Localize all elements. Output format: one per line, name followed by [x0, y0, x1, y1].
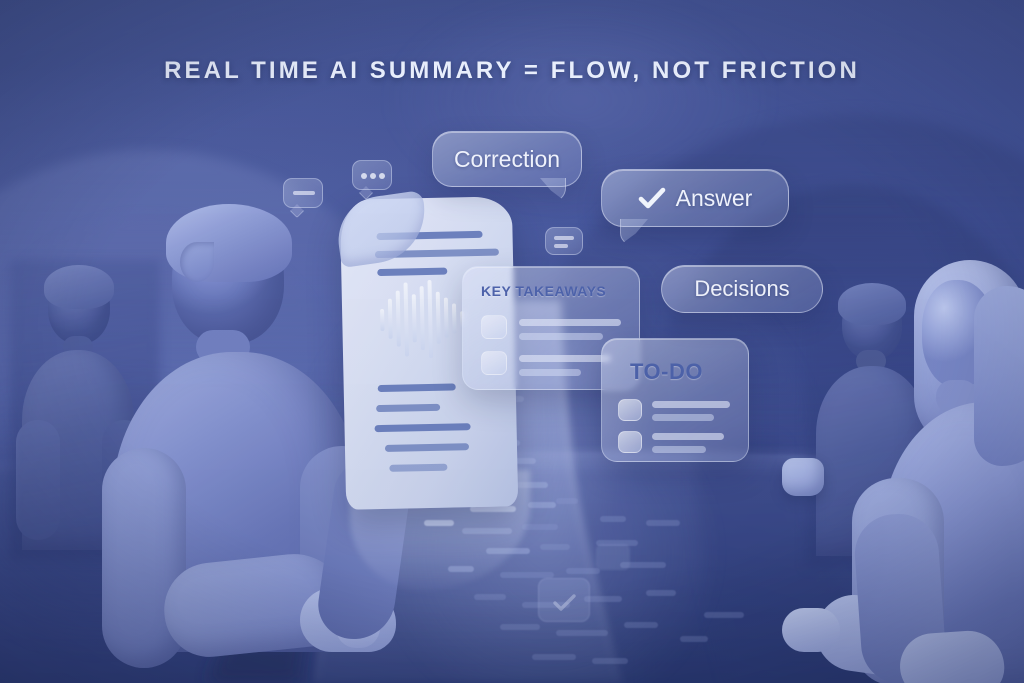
checkbox[interactable]	[481, 315, 507, 339]
card-to-do-title: TO-DO	[630, 359, 703, 385]
check-icon	[638, 186, 666, 210]
river-check-icon	[552, 592, 578, 614]
row-line	[519, 355, 611, 362]
chat-line-icon	[283, 178, 323, 208]
row-line	[652, 401, 730, 408]
chat-lines-icon	[545, 227, 583, 255]
row-line	[519, 319, 621, 326]
cup	[782, 458, 824, 496]
hair	[838, 283, 906, 325]
chat-dots-icon	[352, 160, 392, 190]
fingers-left	[782, 608, 840, 652]
row-line	[652, 446, 706, 453]
row-line	[652, 433, 724, 440]
hair-sweep	[180, 242, 214, 282]
river-faint-card-2	[596, 544, 630, 570]
row-line	[519, 369, 581, 376]
card-key-takeaways-title: KEY TAKEAWAYS	[481, 283, 606, 299]
checkbox[interactable]	[618, 399, 642, 421]
page-title: REAL TIME AI SUMMARY = FLOW, NOT FRICTIO…	[0, 57, 1024, 85]
hair-back	[974, 286, 1024, 466]
illustration-canvas: KEY TAKEAWAYS TO-DO Correction Answer De…	[0, 0, 1024, 683]
arm-left	[16, 420, 60, 540]
row-line	[652, 414, 714, 421]
bubble-answer-label: Answer	[676, 185, 753, 212]
row-line	[519, 333, 603, 340]
bubble-answer[interactable]: Answer	[601, 169, 789, 227]
checkbox[interactable]	[618, 431, 642, 453]
hair	[44, 265, 114, 309]
bubble-decisions-label: Decisions	[694, 276, 789, 302]
checkbox[interactable]	[481, 351, 507, 375]
card-to-do[interactable]: TO-DO	[601, 338, 749, 462]
bubble-decisions[interactable]: Decisions	[661, 265, 823, 313]
bubble-correction-label: Correction	[454, 146, 560, 173]
